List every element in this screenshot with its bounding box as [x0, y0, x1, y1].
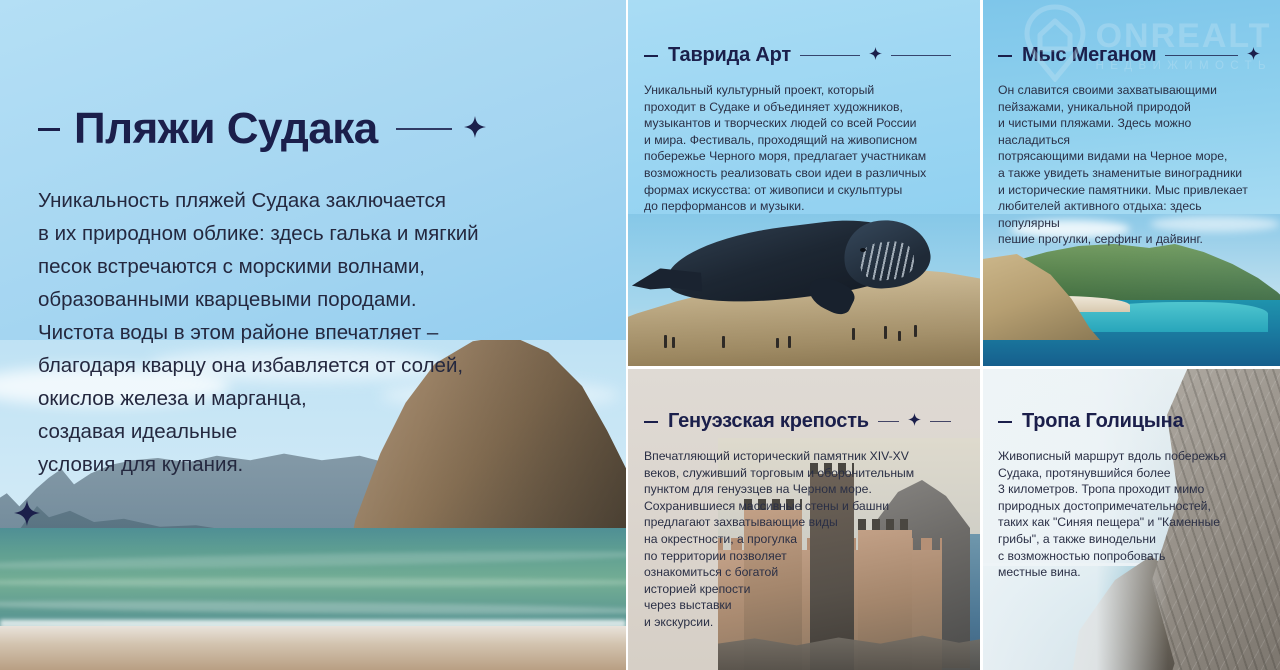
page-title-row: Пляжи Судака	[38, 106, 626, 152]
card-body: Таврида Арт Уникальный культурный проект…	[626, 0, 980, 215]
card-tropa-golicyna[interactable]: Тропа Голицына Живописный маршрут вдоль …	[980, 366, 1280, 670]
four-point-star-icon	[464, 116, 486, 143]
wave-crest	[0, 578, 626, 587]
sandy-beach	[0, 626, 626, 670]
left-panel: Пляжи Судака Уникальность пляжей Судака …	[0, 0, 626, 670]
people-silhouettes	[626, 324, 980, 348]
four-point-star-icon	[869, 47, 882, 65]
card-text: Живописный маршрут вдоль побережья Судак…	[998, 448, 1238, 581]
card-title: Генуэзская крепость	[668, 410, 869, 433]
header-rule-icon	[891, 55, 951, 57]
card-body: Тропа Голицына Живописный маршрут вдоль …	[980, 366, 1280, 581]
card-text: Впечатляющий исторический памятник XIV-X…	[644, 448, 960, 631]
whale-sculpture-icon	[632, 220, 932, 324]
card-text: Уникальный культурный проект, который пр…	[644, 82, 960, 215]
title-dash-icon	[644, 421, 658, 423]
header-rule-icon	[930, 421, 951, 423]
card-header: Тропа Голицына	[998, 410, 1260, 433]
whale-photo	[626, 214, 980, 366]
title-rule-icon	[396, 128, 452, 130]
title-dash-icon	[998, 421, 1012, 423]
card-title: Тропа Голицына	[1022, 410, 1184, 433]
card-header: Таврида Арт	[644, 44, 960, 67]
four-point-star-icon	[1247, 47, 1260, 65]
panel-divider	[626, 0, 628, 670]
grid-vertical-divider	[980, 0, 983, 670]
grid-horizontal-divider	[626, 366, 1280, 369]
card-title: Мыс Меганом	[1022, 44, 1156, 67]
page-title: Пляжи Судака	[74, 106, 378, 152]
poster-root: Пляжи Судака Уникальность пляжей Судака …	[0, 0, 1280, 670]
card-header: Мыс Меганом	[998, 44, 1260, 67]
title-dash-icon	[998, 55, 1012, 57]
page-lead-paragraph: Уникальность пляжей Судака заключается в…	[38, 184, 568, 481]
header-rule-icon	[878, 421, 899, 423]
title-dash-icon	[644, 55, 658, 57]
card-genoese-fortress[interactable]: Генуэзская крепость Впечатляющий историч…	[626, 366, 980, 670]
card-mys-meganom[interactable]: Мыс Меганом Он славится своими захватыва…	[980, 0, 1280, 366]
card-header: Генуэзская крепость	[644, 410, 960, 433]
header-rule-icon	[800, 55, 860, 57]
four-point-star-icon	[908, 413, 921, 431]
whale-eye	[860, 248, 866, 252]
card-body: Мыс Меганом Он славится своими захватыва…	[980, 0, 1280, 248]
card-tavrida-art[interactable]: Таврида Арт Уникальный культурный проект…	[626, 0, 980, 366]
header-rule-icon	[1165, 55, 1238, 57]
card-title: Таврида Арт	[668, 44, 791, 67]
four-point-star-icon	[14, 500, 40, 531]
left-content: Пляжи Судака Уникальность пляжей Судака …	[0, 0, 626, 481]
title-dash-icon	[38, 128, 60, 131]
card-body: Генуэзская крепость Впечатляющий историч…	[626, 366, 980, 631]
card-text: Он славится своими захватывающими пейзаж…	[998, 82, 1260, 248]
cards-grid: Таврида Арт Уникальный культурный проект…	[626, 0, 1280, 670]
